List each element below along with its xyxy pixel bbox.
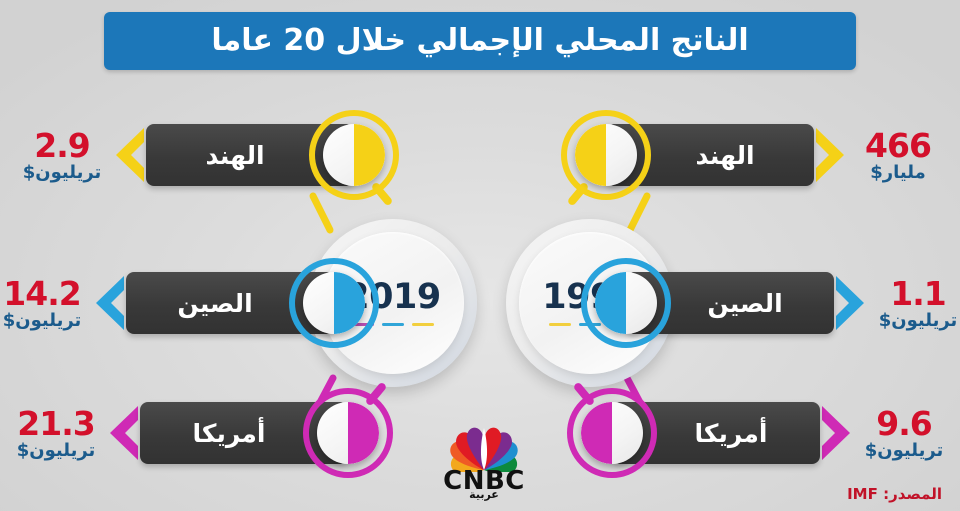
chevron-left-icon (84, 272, 126, 334)
row-usa-2019[interactable]: 21.3 تريليون$ أمريكا (14, 385, 396, 481)
india-half-circle-icon (558, 107, 654, 203)
country-label: الهند (205, 141, 264, 170)
dash-india (412, 323, 434, 326)
usa-half-circle-icon (564, 385, 660, 481)
infographic-canvas: الناتج المحلي الإجمالي خلال 20 عاما 2019… (0, 0, 960, 511)
row-india-2019[interactable]: 2.9 تريليون$ الهند (20, 107, 402, 203)
icon-disc (581, 402, 643, 464)
value-unit: تريليون$ (879, 312, 958, 330)
dash-china (382, 323, 404, 326)
value-usa-1999: 9.6 تريليون$ (862, 407, 946, 460)
value-unit: مليار$ (870, 164, 926, 182)
value-india-1999: 466 مليار$ (856, 129, 940, 182)
icon-disc (303, 272, 365, 334)
chevron-right-icon (834, 272, 876, 334)
value-usa-2019: 21.3 تريليون$ (14, 407, 98, 460)
country-label: أمريكا (695, 419, 768, 448)
chevron-left-icon (98, 402, 140, 464)
usa-half-circle-icon (300, 385, 396, 481)
value-number: 14.2 (3, 277, 80, 310)
page-title: الناتج المحلي الإجمالي خلال 20 عاما (211, 26, 748, 56)
chevron-right-icon (814, 124, 856, 186)
value-number: 2.9 (34, 129, 89, 162)
row-usa-1999[interactable]: أمريكا 9.6 تريليون$ (564, 385, 946, 481)
value-number: 466 (865, 129, 931, 162)
icon-disc (575, 124, 637, 186)
value-china-1999: 1.1 تريليون$ (876, 277, 960, 330)
value-china-2019: 14.2 تريليون$ (0, 277, 84, 330)
country-label: أمريكا (193, 419, 266, 448)
value-unit: تريليون$ (865, 442, 944, 460)
value-unit: تريليون$ (3, 312, 82, 330)
page-title-bar: الناتج المحلي الإجمالي خلال 20 عاما (104, 12, 856, 70)
value-unit: تريليون$ (23, 164, 102, 182)
dash-india (549, 323, 571, 326)
icon-disc (595, 272, 657, 334)
row-china-1999[interactable]: الصين 1.1 تريليون$ (578, 255, 960, 351)
icon-disc (323, 124, 385, 186)
value-india-2019: 2.9 تريليون$ (20, 129, 104, 182)
cnbc-arabic-label: عربية (424, 488, 544, 501)
icon-disc (317, 402, 379, 464)
value-number: 9.6 (876, 407, 931, 440)
chevron-right-icon (820, 402, 862, 464)
row-india-1999[interactable]: الهند 466 مليار$ (558, 107, 940, 203)
value-number: 1.1 (890, 277, 945, 310)
source-label: المصدر: IMF (847, 485, 942, 503)
india-half-circle-icon (306, 107, 402, 203)
country-label: الصين (177, 289, 252, 318)
country-label: الهند (695, 141, 754, 170)
value-number: 21.3 (17, 407, 94, 440)
chevron-left-icon (104, 124, 146, 186)
value-unit: تريليون$ (17, 442, 96, 460)
china-half-circle-icon (286, 255, 382, 351)
row-china-2019[interactable]: 14.2 تريليون$ الصين (0, 255, 382, 351)
country-label: الصين (707, 289, 782, 318)
cnbc-logo: CNBC عربية (424, 424, 544, 498)
china-half-circle-icon (578, 255, 674, 351)
peacock-icon (424, 424, 544, 472)
